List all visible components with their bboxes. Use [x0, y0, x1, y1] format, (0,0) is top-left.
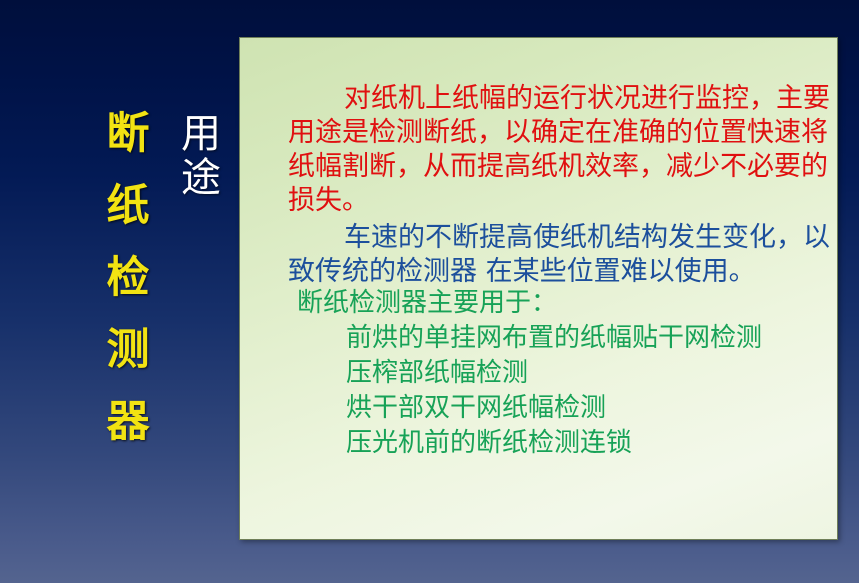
subject-label-char-1: 用 — [176, 112, 226, 156]
vertical-title-char-1: 断 — [96, 98, 160, 170]
green-list: 前烘的单挂网布置的纸幅贴干网检测 压榨部纸幅检测 烘干部双干网纸幅检测 压光机前… — [240, 321, 837, 461]
list-item: 压光机前的断纸检测连锁 — [346, 426, 837, 461]
vertical-slide-title: 断 纸 检 测 器 — [96, 98, 160, 458]
red-paragraph: 对纸机上纸幅的运行状况进行监控，主要用途是检测断纸，以确定在准确的位置快速将纸幅… — [240, 82, 837, 218]
content-panel: 对纸机上纸幅的运行状况进行监控，主要用途是检测断纸，以确定在准确的位置快速将纸幅… — [239, 37, 838, 540]
vertical-title-char-2: 纸 — [96, 170, 160, 242]
list-item: 前烘的单挂网布置的纸幅贴干网检测 — [346, 321, 837, 356]
vertical-title-char-3: 检 — [96, 242, 160, 314]
blue-paragraph: 车速的不断提高使纸机结构发生变化，以致传统的检测器 在某些位置难以使用。 — [240, 221, 837, 289]
subject-label: 用 途 — [176, 112, 226, 200]
green-list-heading: 断纸检测器主要用于： — [240, 287, 837, 319]
vertical-title-char-5: 器 — [96, 386, 160, 458]
list-item: 压榨部纸幅检测 — [346, 356, 837, 391]
vertical-title-char-4: 测 — [96, 314, 160, 386]
subject-label-char-2: 途 — [176, 156, 226, 200]
presentation-slide: 断 纸 检 测 器 用 途 对纸机上纸幅的运行状况进行监控，主要用途是检测断纸，… — [0, 0, 859, 583]
list-item: 烘干部双干网纸幅检测 — [346, 391, 837, 426]
